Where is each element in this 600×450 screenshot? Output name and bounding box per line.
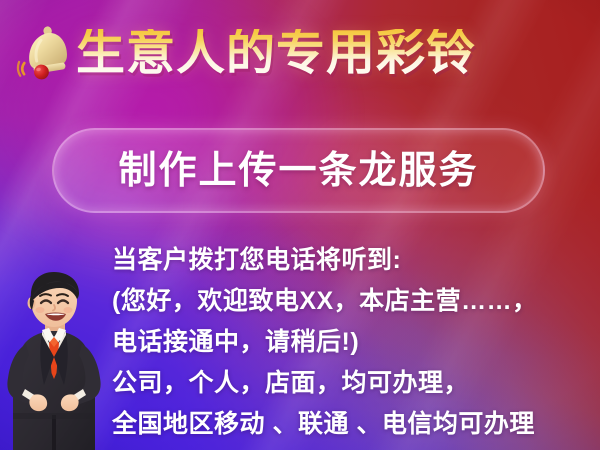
body-line-5: 全国地区移动 、联通 、电信均可办理 [112,404,592,445]
service-banner-label: 制作上传一条龙服务 [118,152,478,190]
service-banner: 制作上传一条龙服务 [52,128,545,213]
body-copy: 当客户拨打您电话将听到: (您好，欢迎致电XX，本店主营……， 电话接通中，请稍… [112,240,592,445]
businessman-illustration [0,265,110,450]
promo-poster: 生意人的专用彩铃 制作上传一条龙服务 当客户拨打您电话将听到: (您好，欢迎致电… [0,0,600,450]
body-line-2: (您好，欢迎致电XX，本店主营……， [112,281,592,322]
page-title: 生意人的专用彩铃 [76,29,476,78]
bell-icon [10,18,77,88]
poster-header: 生意人的专用彩铃 [0,12,600,94]
body-line-4: 公司，个人，店面，均可办理， [112,363,592,404]
body-line-1: 当客户拨打您电话将听到: [112,240,592,281]
body-line-3: 电话接通中，请稍后!) [112,322,592,363]
